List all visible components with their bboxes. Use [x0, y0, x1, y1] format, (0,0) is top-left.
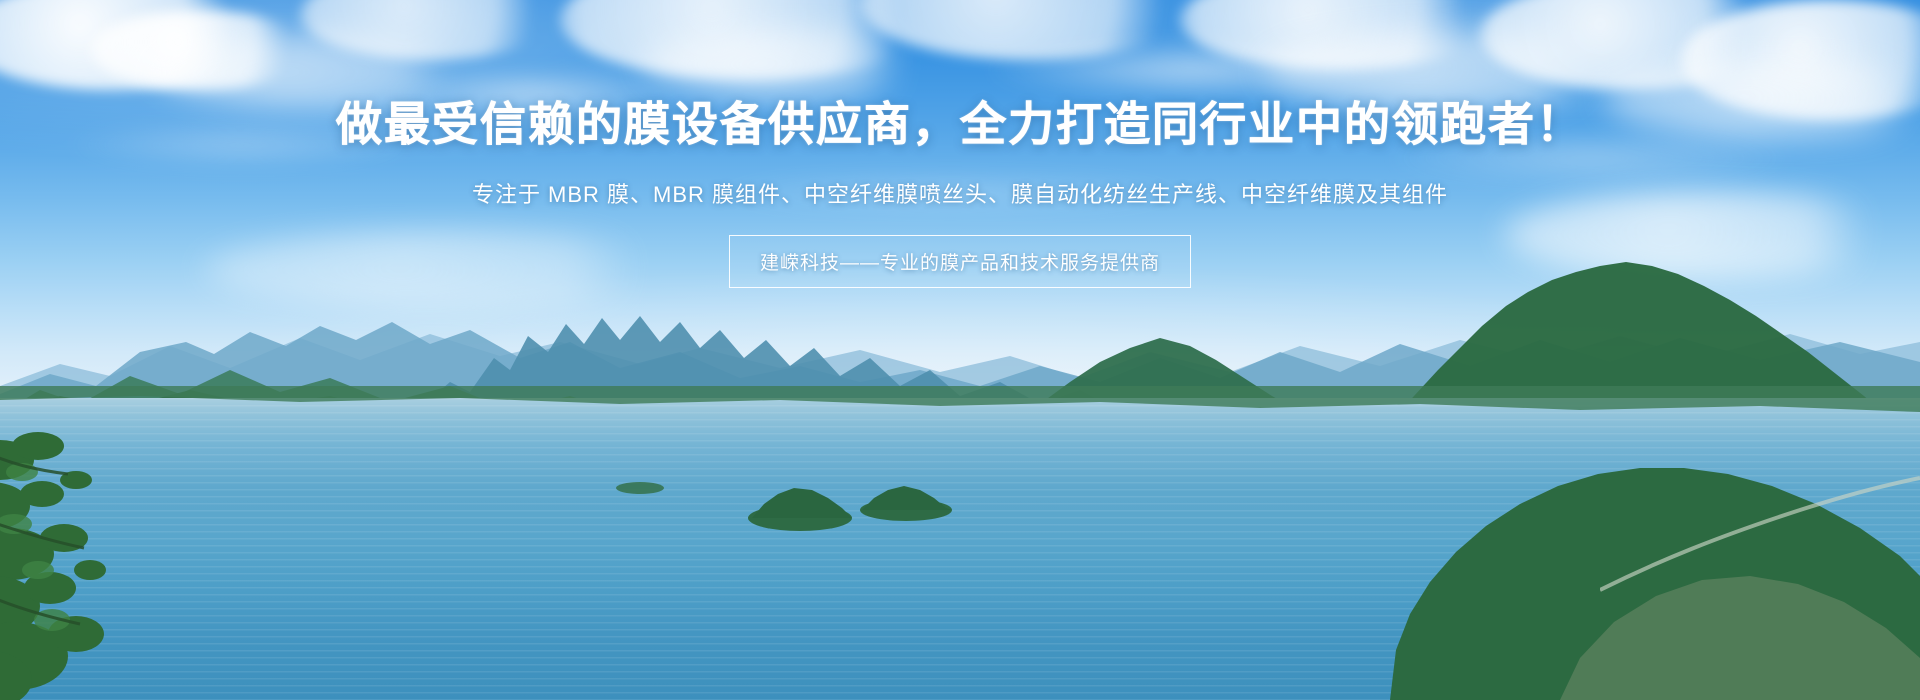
hero-subheadline: 专注于 MBR 膜、MBR 膜组件、中空纤维膜喷丝头、膜自动化纺丝生产线、中空纤…	[472, 177, 1448, 209]
hero-headline: 做最受信赖的膜设备供应商，全力打造同行业中的领跑者！	[336, 98, 1584, 151]
hero-banner: 做最受信赖的膜设备供应商，全力打造同行业中的领跑者！ 专注于 MBR 膜、MBR…	[0, 0, 1920, 700]
hero-tagline-box: 建嵘科技——专业的膜产品和技术服务提供商	[729, 235, 1191, 288]
hero-text-overlay: 做最受信赖的膜设备供应商，全力打造同行业中的领跑者！ 专注于 MBR 膜、MBR…	[0, 0, 1920, 700]
